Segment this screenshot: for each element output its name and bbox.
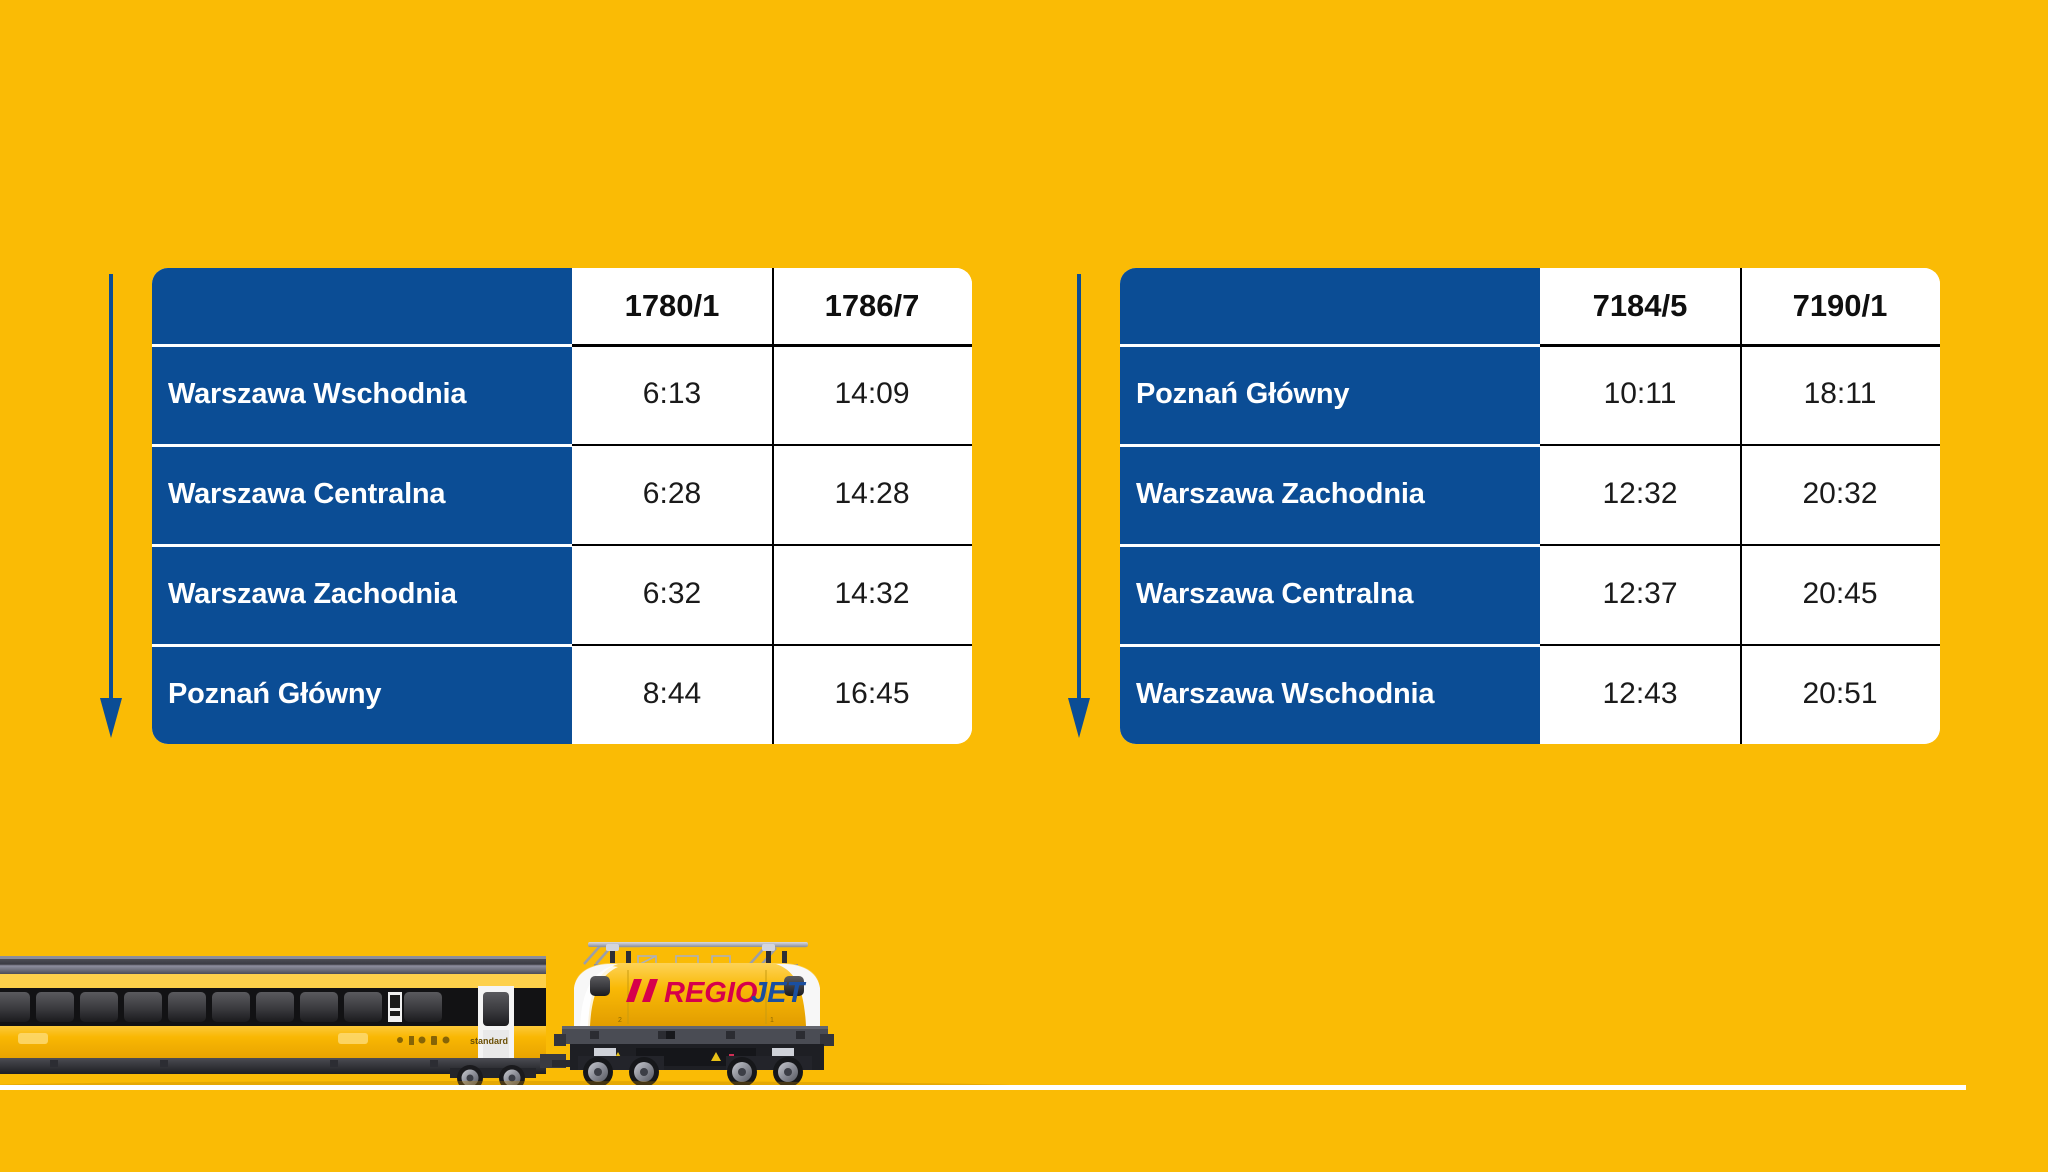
departure-time: 12:43	[1540, 644, 1740, 744]
departure-time: 6:13	[572, 344, 772, 444]
departure-time: 12:37	[1540, 544, 1740, 644]
table-header-row: 7184/5 7190/1	[1120, 268, 1940, 344]
carriage-door-placard	[388, 992, 402, 1022]
station-name: Warszawa Centralna	[1120, 544, 1540, 644]
table-row: Poznań Główny 10:11 18:11	[1120, 344, 1940, 444]
station-name: Warszawa Zachodnia	[152, 544, 572, 644]
departure-time: 14:09	[772, 344, 972, 444]
pantograph-rear	[750, 946, 806, 964]
cab-number-right: 1	[770, 1017, 774, 1024]
regiojet-logo-jet: JET	[751, 977, 806, 1009]
station-name: Warszawa Wschodnia	[1120, 644, 1540, 744]
departure-time: 12:32	[1540, 444, 1740, 544]
arrow-head	[100, 698, 122, 738]
station-name: Poznań Główny	[1120, 344, 1540, 444]
train-illustration: standard	[0, 930, 1060, 1090]
departure-time: 14:32	[772, 544, 972, 644]
arrow-shaft	[1077, 274, 1081, 700]
table-row: Warszawa Zachodnia 12:32 20:32	[1120, 444, 1940, 544]
station-name: Warszawa Zachodnia	[1120, 444, 1540, 544]
timetable-block-warszawa-poznan: 1780/1 1786/7 Warszawa Wschodnia 6:13 14…	[100, 268, 972, 744]
timetable-poznan-warszawa: 7184/5 7190/1 Poznań Główny 10:11 18:11 …	[1120, 268, 1940, 744]
header-cell-train-2: 1786/7	[772, 268, 972, 344]
departure-time: 6:28	[572, 444, 772, 544]
table-row: Warszawa Wschodnia 6:13 14:09	[152, 344, 972, 444]
carriage-end-door	[478, 986, 514, 1062]
arrow-down-icon	[1068, 268, 1120, 744]
passenger-carriage: standard	[0, 956, 574, 1090]
rail-line	[0, 1085, 1966, 1090]
table-row: Warszawa Zachodnia 6:32 14:32	[152, 544, 972, 644]
departure-time: 16:45	[772, 644, 972, 744]
table-row: Warszawa Wschodnia 12:43 20:51	[1120, 644, 1940, 744]
timetable-warszawa-poznan: 1780/1 1786/7 Warszawa Wschodnia 6:13 14…	[152, 268, 972, 744]
header-cell-train-2: 7190/1	[1740, 268, 1940, 344]
departure-time: 10:11	[1540, 344, 1740, 444]
cab-window-left	[590, 976, 610, 996]
table-row: Poznań Główny 8:44 16:45	[152, 644, 972, 744]
carriage-class-label: standard	[470, 1036, 508, 1046]
arrow-shaft	[109, 274, 113, 700]
cab-number-left: 2	[618, 1017, 622, 1024]
header-cell-station	[152, 268, 572, 344]
timetable-block-poznan-warszawa: 7184/5 7190/1 Poznań Główny 10:11 18:11 …	[1068, 268, 1940, 744]
departure-time: 20:45	[1740, 544, 1940, 644]
arrow-head	[1068, 698, 1090, 738]
table-row: Warszawa Centralna 12:37 20:45	[1120, 544, 1940, 644]
departure-time: 14:28	[772, 444, 972, 544]
locomotive: 2 1 REGIO JET	[554, 942, 834, 1087]
table-header-row: 1780/1 1786/7	[152, 268, 972, 344]
departure-time: 6:32	[572, 544, 772, 644]
header-cell-station	[1120, 268, 1540, 344]
departure-time: 20:51	[1740, 644, 1940, 744]
regiojet-logo-regio: REGIO	[664, 977, 758, 1009]
departure-time: 18:11	[1740, 344, 1940, 444]
header-cell-train-1: 7184/5	[1540, 268, 1740, 344]
arrow-down-icon	[100, 268, 152, 744]
station-name: Warszawa Centralna	[152, 444, 572, 544]
station-name: Warszawa Wschodnia	[152, 344, 572, 444]
departure-time: 20:32	[1740, 444, 1940, 544]
departure-time: 8:44	[572, 644, 772, 744]
header-cell-train-1: 1780/1	[572, 268, 772, 344]
station-name: Poznań Główny	[152, 644, 572, 744]
table-row: Warszawa Centralna 6:28 14:28	[152, 444, 972, 544]
